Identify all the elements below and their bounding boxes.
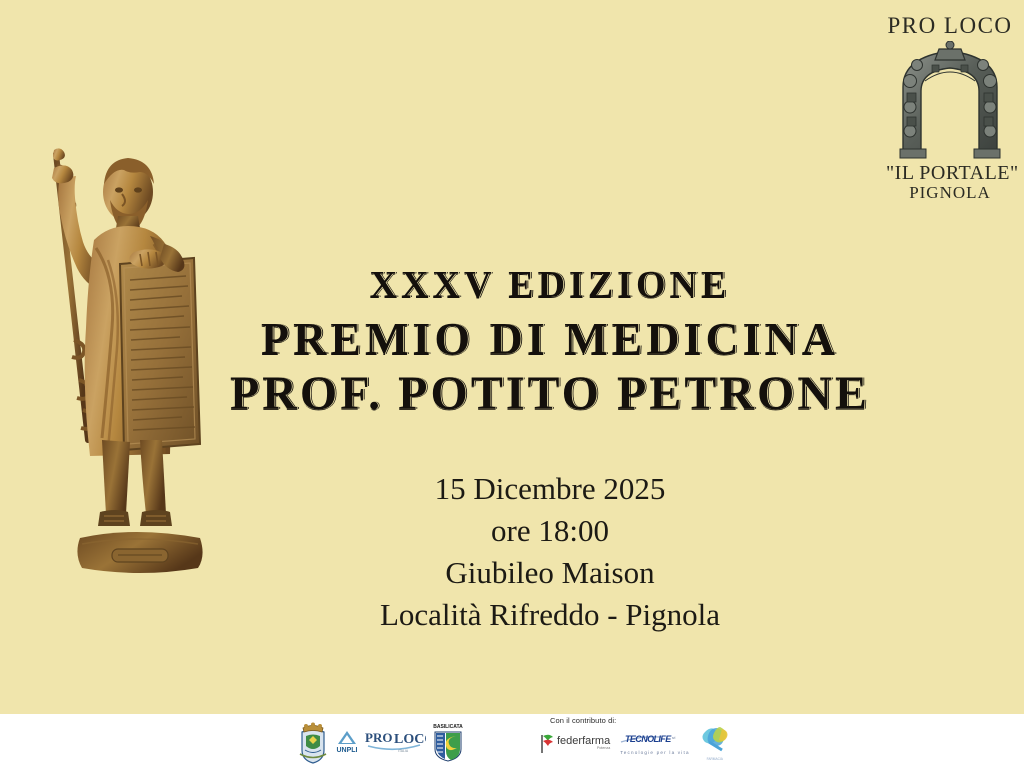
headline-award: PREMIO DI MEDICINA bbox=[180, 316, 920, 362]
event-details: 15 Dicembre 2025 ore 18:00 Giubileo Mais… bbox=[180, 468, 920, 635]
tecnolife-logo: TECNOLIFE srl Tecnologie per la vita bbox=[620, 732, 690, 756]
event-date: 15 Dicembre 2025 bbox=[180, 468, 920, 510]
event-location: Località Rifreddo - Pignola bbox=[180, 594, 920, 636]
federfarma-sub: Potenza bbox=[557, 747, 610, 751]
third-sponsor-sub: FARMACIA bbox=[700, 758, 730, 762]
proloco-name-label: "IL PORTALE" bbox=[886, 163, 1014, 184]
svg-text:srl: srl bbox=[672, 736, 676, 740]
partner-logo-group: UNPLI PRO LOCO ITALIA BASILICATA bbox=[296, 720, 464, 764]
comune-crest-logo bbox=[296, 720, 330, 764]
svg-text:LOCO: LOCO bbox=[394, 732, 426, 747]
third-sponsor-logo: FARMACIA bbox=[700, 726, 730, 762]
event-poster: PRO LOCO bbox=[0, 0, 1024, 768]
unpli-logo: UNPLI bbox=[336, 729, 358, 755]
svg-text:UNPLI: UNPLI bbox=[337, 747, 358, 754]
federfarma-logo: federfarma Potenza bbox=[540, 733, 610, 755]
sponsor-footer: UNPLI PRO LOCO ITALIA BASILICATA Con il … bbox=[0, 714, 1024, 768]
contributor-group: Con il contributo di: federfarma Potenza bbox=[540, 716, 750, 766]
headline-honoree: PROF. POTITO PETRONE bbox=[180, 370, 920, 418]
tecnolife-tagline: Tecnologie per la vita bbox=[620, 751, 690, 756]
headline-edition: XXXV EDIZIONE bbox=[180, 266, 920, 304]
proloco-partner-logo: PRO LOCO ITALIA bbox=[364, 729, 426, 755]
proloco-town-label: PIGNOLA bbox=[886, 184, 1014, 203]
svg-text:BASILICATA: BASILICATA bbox=[433, 724, 463, 730]
basilicata-region-logo: BASILICATA bbox=[432, 721, 464, 763]
poster-headline: XXXV EDIZIONE PREMIO DI MEDICINA PROF. P… bbox=[180, 266, 920, 418]
contribution-label: Con il contributo di: bbox=[550, 716, 750, 725]
svg-text:PRO: PRO bbox=[365, 730, 392, 745]
sponsor-row: federfarma Potenza TECNOLIFE srl Tecnolo… bbox=[540, 726, 750, 762]
federfarma-mark-icon bbox=[540, 733, 556, 755]
tecnolife-mark-icon: TECNOLIFE srl bbox=[620, 734, 684, 745]
event-time: ore 18:00 bbox=[180, 510, 920, 552]
organizer-logo: PRO LOCO bbox=[886, 14, 1014, 216]
stone-portal-arch-icon bbox=[895, 41, 1005, 161]
svg-text:ITALIA: ITALIA bbox=[398, 749, 409, 753]
svg-text:TECNOLIFE: TECNOLIFE bbox=[625, 734, 672, 744]
third-sponsor-mark-icon bbox=[700, 726, 730, 752]
proloco-top-label: PRO LOCO bbox=[886, 14, 1014, 37]
event-venue: Giubileo Maison bbox=[180, 552, 920, 594]
